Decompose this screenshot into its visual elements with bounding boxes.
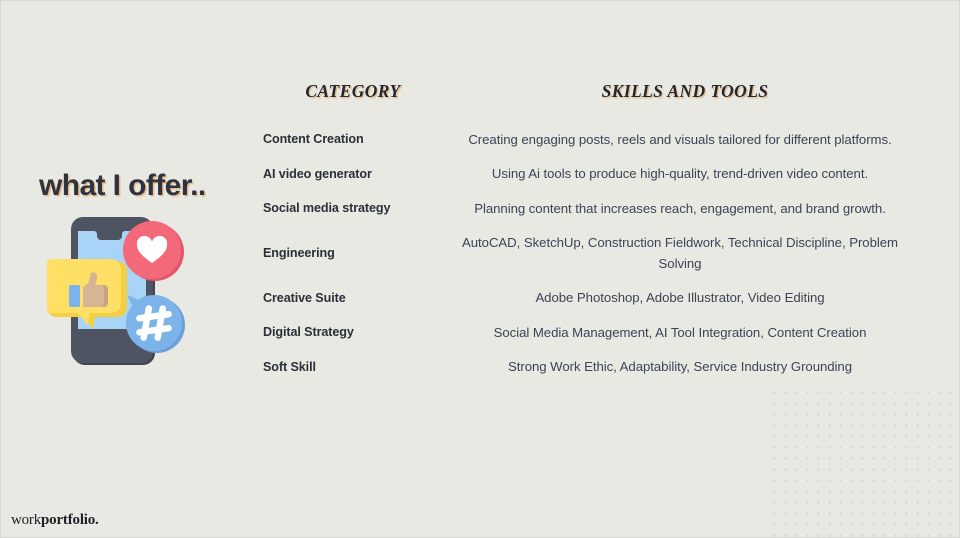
page-title: what I offer.. (39, 169, 251, 203)
footer-logo: workportfolio. (11, 512, 99, 529)
table-row: Soft Skill Strong Work Ethic, Adaptabili… (263, 357, 923, 377)
footer-logo-bold: portfolio. (41, 512, 99, 528)
slide-canvas: what I offer.. (0, 0, 960, 538)
category-label: Content Creation (263, 132, 443, 148)
skills-description: Strong Work Ethic, Adaptability, Service… (443, 357, 923, 377)
column-header-category: CATEGORY (263, 81, 443, 102)
skills-description: AutoCAD, SketchUp, Construction Fieldwor… (443, 233, 923, 274)
table-row: Social media strategy Planning content t… (263, 199, 923, 219)
column-header-skills: SKILLS AND TOOLS (443, 81, 923, 102)
table-row: Digital Strategy Social Media Management… (263, 323, 923, 343)
table-row: Engineering AutoCAD, SketchUp, Construct… (263, 233, 923, 274)
skills-description: Creating engaging posts, reels and visua… (443, 130, 923, 150)
skills-description: Adobe Photoshop, Adobe Illustrator, Vide… (443, 288, 923, 308)
category-label: AI video generator (263, 167, 443, 183)
category-label: Engineering (263, 246, 443, 262)
skills-description: Planning content that increases reach, e… (443, 199, 923, 219)
table-row: Creative Suite Adobe Photoshop, Adobe Il… (263, 288, 923, 308)
category-label: Soft Skill (263, 360, 443, 376)
table-row: Content Creation Creating engaging posts… (263, 130, 923, 150)
headline-block: what I offer.. (39, 169, 251, 203)
category-label: Social media strategy (263, 201, 443, 217)
table-row: AI video generator Using Ai tools to pro… (263, 164, 923, 184)
table-header-row: CATEGORY SKILLS AND TOOLS (263, 81, 923, 102)
category-label: Digital Strategy (263, 325, 443, 341)
footer-logo-light: work (11, 512, 41, 528)
decorative-dot-pattern (769, 387, 959, 537)
social-media-phone-illustration (47, 217, 217, 369)
skills-description: Using Ai tools to produce high-quality, … (443, 164, 923, 184)
skills-table: CATEGORY SKILLS AND TOOLS Content Creati… (263, 81, 923, 392)
skills-description: Social Media Management, AI Tool Integra… (443, 323, 923, 343)
category-label: Creative Suite (263, 291, 443, 307)
